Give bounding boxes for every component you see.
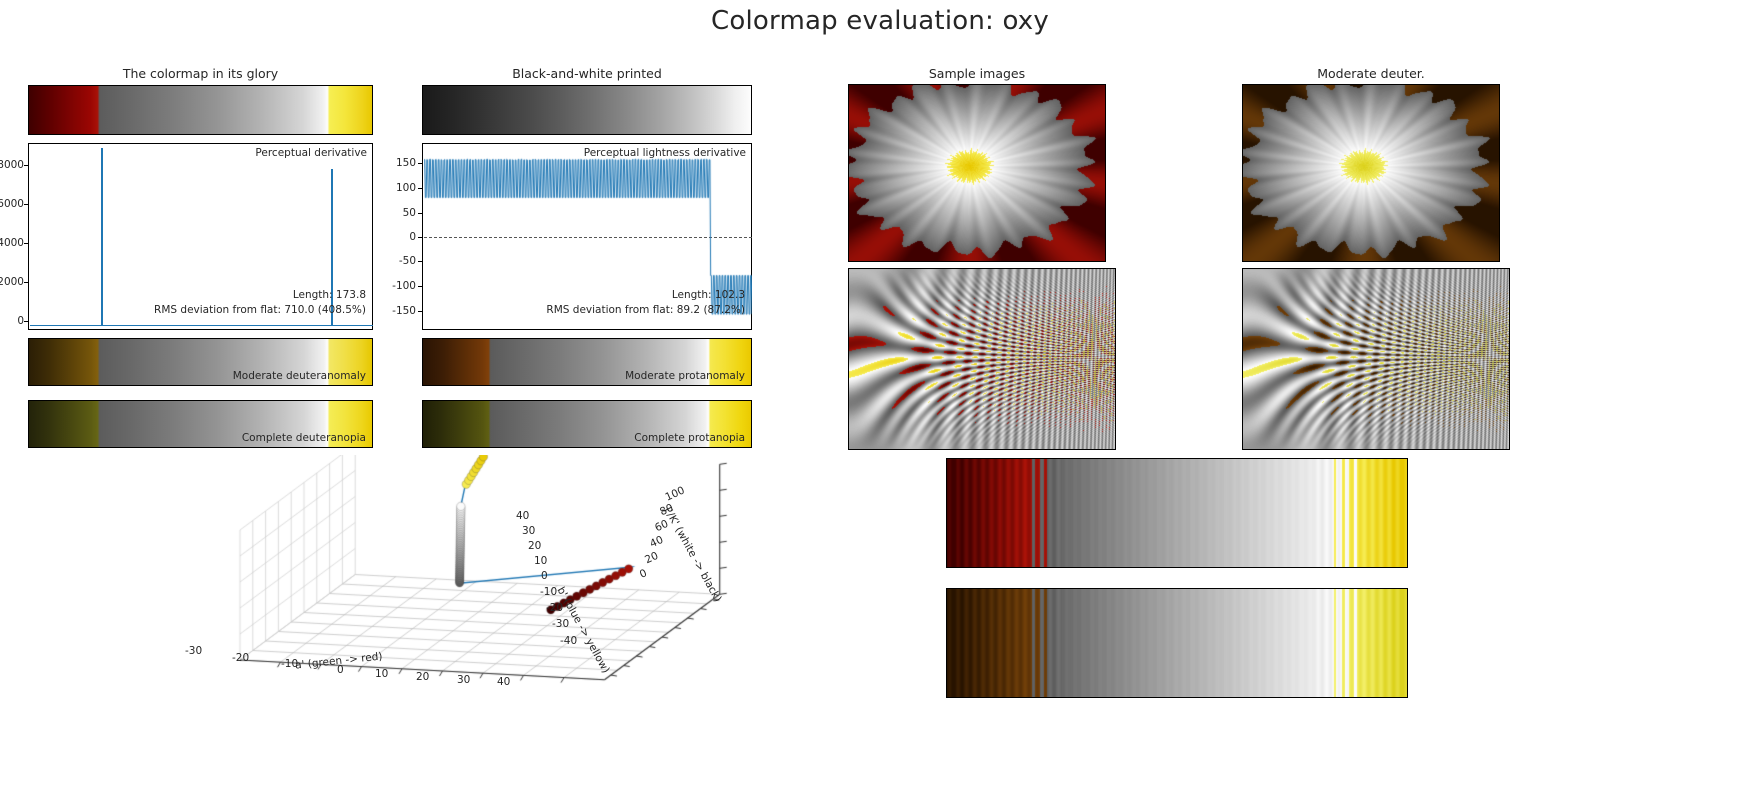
ytick-neg50: -50 <box>382 255 416 267</box>
ytick3d-20: 20 <box>528 540 541 552</box>
ytick-mark-50 <box>418 213 422 214</box>
ytick3d-10: 10 <box>534 555 547 567</box>
ytick-neg100: -100 <box>382 280 416 292</box>
strip-label-moderate-deuteranomaly: Moderate deuteranomaly <box>233 370 366 382</box>
perceptual-derivative-axes: Perceptual derivative Length: 173.8 RMS … <box>28 143 373 330</box>
panel-title-bw: Black-and-white printed <box>422 66 752 81</box>
panel-title-deuter: Moderate deuter. <box>1242 66 1500 81</box>
ytick3d-40: 40 <box>516 510 529 522</box>
ytick3d--40: -40 <box>560 635 577 647</box>
ytick-mark-neg50 <box>418 261 422 262</box>
colormap-strip-glory <box>28 85 373 135</box>
ytick-mark-8000 <box>24 165 28 166</box>
sample-image-pattern-normal <box>848 268 1116 450</box>
strip-complete-protanopia: Complete protanopia <box>422 400 752 448</box>
ytick3d--10: -10 <box>540 586 557 598</box>
ytick-mark-6000 <box>24 204 28 205</box>
ytick3d-0: 0 <box>541 570 548 582</box>
mountain-normal-canvas <box>849 85 1105 261</box>
ytick-mark-zero <box>418 237 422 238</box>
panel-title-glory: The colormap in its glory <box>28 66 373 81</box>
ytick-mark-4000 <box>24 243 28 244</box>
pattern-normal-canvas <box>849 269 1115 449</box>
figure-title: Colormap evaluation: oxy <box>0 6 1760 36</box>
derivative-spike-1 <box>101 148 103 325</box>
ytick-2000: 2000 <box>0 276 24 288</box>
sample-bar-normal <box>946 458 1408 568</box>
ytick-mark-100 <box>418 188 422 189</box>
derivative-length-annotation: Length: 173.8 <box>293 289 366 301</box>
strip-complete-deuteranopia: Complete deuteranopia <box>28 400 373 448</box>
strip-moderate-protanomaly: Moderate protanomaly <box>422 338 752 386</box>
ytick-0: 0 <box>0 315 24 327</box>
mountain-deuter-canvas <box>1243 85 1499 261</box>
lightness-derivative-axes: Perceptual lightness derivative Length: … <box>422 143 752 330</box>
ytick-150: 150 <box>382 157 416 169</box>
xtick3d-20: 20 <box>416 671 429 683</box>
lightness-derivative-plot <box>424 145 752 330</box>
strip-moderate-deuteranomaly: Moderate deuteranomaly <box>28 338 373 386</box>
ytick3d-30: 30 <box>522 525 535 537</box>
sample-image-mountain-normal <box>848 84 1106 262</box>
ytick-8000: 8000 <box>0 159 24 171</box>
pattern-deuter-canvas <box>1243 269 1509 449</box>
lightness-rms-annotation: RMS deviation from flat: 89.2 (87.2%) <box>546 304 745 316</box>
xtick3d--30: -30 <box>185 645 202 657</box>
xtick3d-30: 30 <box>457 674 470 686</box>
ytick3d--20: -20 <box>546 602 563 614</box>
ytick-mark-neg150 <box>418 311 422 312</box>
ytick-6000: 6000 <box>0 198 24 210</box>
ytick-mark-150 <box>418 163 422 164</box>
ytick-zero: 0 <box>382 231 416 243</box>
xtick3d--10: -10 <box>281 658 298 670</box>
lightness-length-annotation: Length: 102.3 <box>672 289 745 301</box>
strip-label-complete-protanopia: Complete protanopia <box>634 432 745 444</box>
sample-bar-normal-canvas <box>947 459 1407 567</box>
ytick-50: 50 <box>382 207 416 219</box>
ytick-4000: 4000 <box>0 237 24 249</box>
xtick3d-0: 0 <box>337 664 344 676</box>
colormap-strip-bw <box>422 85 752 135</box>
derivative-rms-annotation: RMS deviation from flat: 710.0 (408.5%) <box>154 304 366 316</box>
xtick3d-40: 40 <box>497 676 510 688</box>
derivative-baseline <box>30 325 373 326</box>
ytick-mark-0 <box>24 321 28 322</box>
ytick-neg150: -150 <box>382 305 416 317</box>
sample-bar-deuter-canvas <box>947 589 1407 697</box>
strip-label-moderate-protanomaly: Moderate protanomaly <box>625 370 745 382</box>
ytick3d--30: -30 <box>552 618 569 630</box>
ytick-mark-neg100 <box>418 286 422 287</box>
sample-image-mountain-deuter <box>1242 84 1500 262</box>
sample-image-pattern-deuter <box>1242 268 1510 450</box>
strip-label-complete-deuteranopia: Complete deuteranopia <box>242 432 366 444</box>
xtick3d--20: -20 <box>232 652 249 664</box>
panel-title-sample: Sample images <box>848 66 1106 81</box>
ytick-100: 100 <box>382 182 416 194</box>
derivative-spike-2 <box>331 169 333 325</box>
xtick3d-10: 10 <box>375 668 388 680</box>
perceptual-derivative-title: Perceptual derivative <box>255 147 367 159</box>
sample-bar-deuter <box>946 588 1408 698</box>
ytick-mark-2000 <box>24 282 28 283</box>
